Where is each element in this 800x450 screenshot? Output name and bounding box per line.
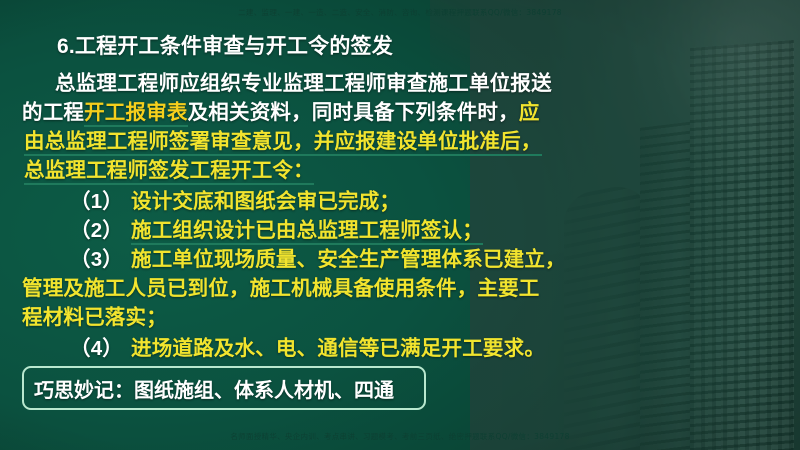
condition-4-number: （4） [70, 337, 123, 360]
condition-3-text: 施工单位现场质量、安全生产管理体系已建立， [131, 248, 566, 271]
presentation-slide: 二建、监理、一建、一造、二造、安全、消防、咨询、检测课程押题联系QQ/微信：38… [0, 0, 800, 450]
body-line-4: 总监理工程师签发工程开工令： [24, 153, 624, 183]
condition-1-number: （1） [70, 190, 123, 213]
body-line-2-middle: 及相关资料，同时具备下列条件时， [188, 101, 519, 124]
body-line-4-text: 总监理工程师签发工程开工令： [24, 159, 314, 185]
body-line-3: 由总监理工程师签署审查意见，并应报建设单位批准后， [24, 124, 624, 154]
condition-3-continuation-2-text: 程材料已落实； [22, 306, 167, 329]
condition-item-2: （2）施工组织设计已由总监理工程师签认； [70, 213, 670, 243]
condition-item-3: （3）施工单位现场质量、安全生产管理体系已建立， [70, 242, 670, 272]
slide-content: 6.工程开工条件审查与开工令的签发 总监理工程师应组织专业监理工程师审查施工单位… [0, 0, 800, 450]
condition-3-continuation-1: 管理及施工人员已到位，施工机械具备使用条件，主要工 [22, 271, 622, 301]
body-line-2: 的工程开工报审表及相关资料，同时具备下列条件时，应 [22, 95, 622, 125]
condition-3-continuation-2: 程材料已落实； [22, 300, 622, 330]
condition-1-text: 设计交底和图纸会审已完成； [131, 190, 400, 213]
body-line-1: 总监理工程师应组织专业监理工程师审查施工单位报送 [55, 66, 655, 96]
condition-3-number: （3） [70, 248, 123, 271]
condition-4-text: 进场道路及水、电、通信等已满足开工要求。 [131, 337, 545, 360]
body-line-2-suffix: 应 [519, 101, 540, 124]
slide-title: 6.工程开工条件审查与开工令的签发 [57, 30, 657, 60]
condition-3-continuation-1-text: 管理及施工人员已到位，施工机械具备使用条件，主要工 [22, 277, 540, 300]
mnemonic-text: 巧思妙记：图纸施组、体系人材机、四通 [24, 374, 394, 403]
condition-item-4: （4）进场道路及水、电、通信等已满足开工要求。 [70, 331, 670, 361]
condition-2-number: （2） [70, 219, 123, 242]
condition-item-1: （1）设计交底和图纸会审已完成； [70, 184, 670, 214]
body-line-2-prefix: 的工程 [22, 101, 84, 124]
body-line-1-text: 总监理工程师应组织专业监理工程师审查施工单位报送 [55, 72, 552, 95]
mnemonic-box: 巧思妙记：图纸施组、体系人材机、四通 [22, 366, 426, 410]
